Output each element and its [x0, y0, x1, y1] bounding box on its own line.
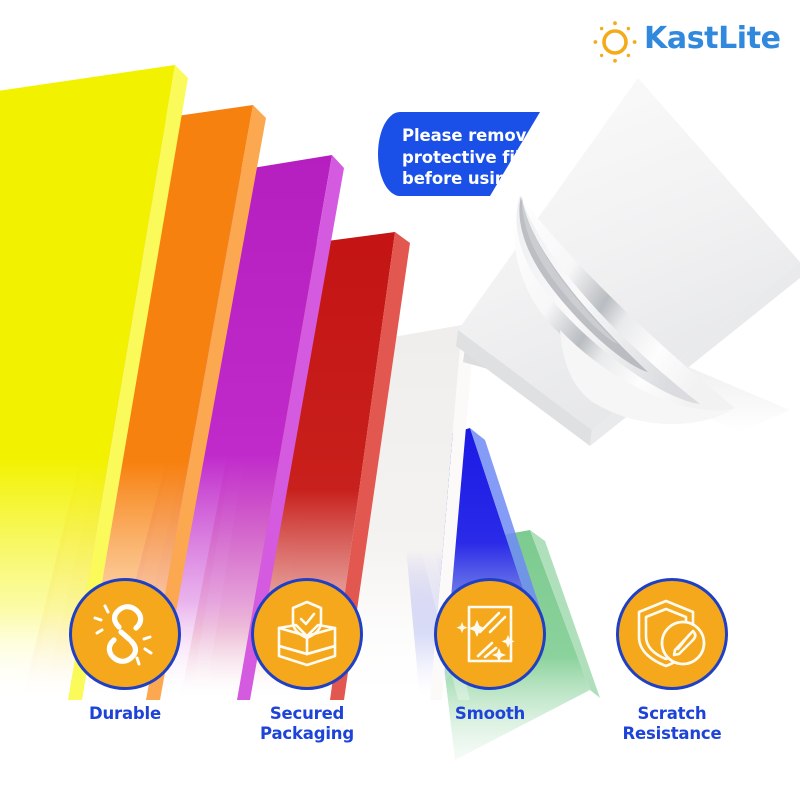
feature-label: Scratch Resistance	[581, 704, 763, 744]
brand-logo: KastLite	[592, 18, 782, 66]
feature-durable[interactable]: Durable	[34, 578, 216, 724]
badge-circle	[616, 578, 728, 690]
brand-name: KastLite	[644, 21, 781, 56]
callout-bubble: Please remove the protective film before…	[378, 112, 578, 196]
shield-blade-icon	[633, 595, 711, 673]
label-line: Scratch	[581, 704, 763, 724]
shield-box-icon	[269, 596, 345, 672]
callout-line-2: protective film	[402, 147, 578, 169]
badge-circle	[251, 578, 363, 690]
callout-line-3: before using	[402, 168, 578, 190]
feature-scratch-resistance[interactable]: Scratch Resistance	[581, 578, 763, 744]
badge-circle	[69, 578, 181, 690]
label-line: Secured	[216, 704, 398, 724]
feature-secured-packaging[interactable]: Secured Packaging	[216, 578, 398, 744]
label-line: Durable	[34, 704, 216, 724]
feature-label: Secured Packaging	[216, 704, 398, 744]
feature-label: Durable	[34, 704, 216, 724]
badge-circle	[434, 578, 546, 690]
feature-label: Smooth	[399, 704, 581, 724]
sparkle-panel-icon	[452, 596, 528, 672]
feature-badges: Durable Secured Packag	[0, 578, 800, 778]
product-infographic: KastLite Please remove the protective fi…	[0, 0, 800, 800]
callout-text: Please remove the protective film before…	[402, 125, 578, 190]
label-line: Smooth	[399, 704, 581, 724]
sun-icon	[592, 20, 638, 64]
chain-link-icon	[88, 597, 162, 671]
feature-smooth[interactable]: Smooth	[399, 578, 581, 724]
callout-line-1: Please remove the	[402, 125, 578, 147]
label-line: Packaging	[216, 724, 398, 744]
label-line: Resistance	[581, 724, 763, 744]
